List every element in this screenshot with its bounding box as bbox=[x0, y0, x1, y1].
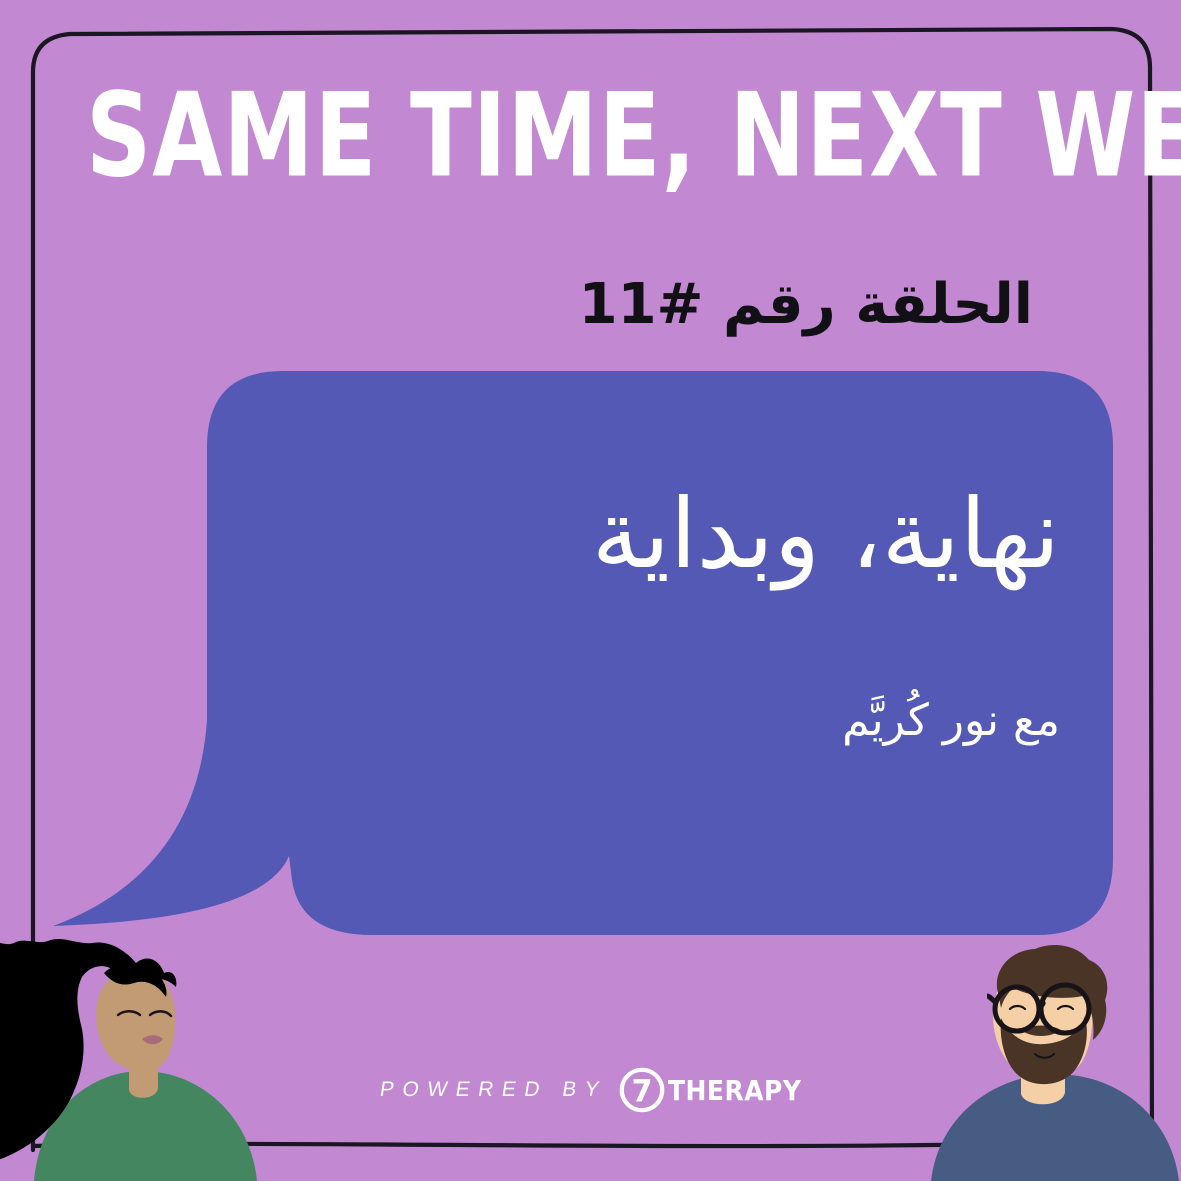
episode-title: نهاية، وبداية bbox=[170, 470, 1060, 598]
woman-avatar bbox=[0, 931, 312, 1181]
podcast-episode-cover: SAME TIME, NEXT WEEK الحلقة رقم #11 نهاي… bbox=[0, 0, 1181, 1181]
bubble-text-container: نهاية، وبداية مع نور كُريَّم bbox=[170, 470, 1060, 752]
powered-by-label: POWERED BY bbox=[378, 1078, 609, 1102]
seven-circle-logo-icon: 7 bbox=[619, 1067, 665, 1113]
svg-text:7: 7 bbox=[631, 1075, 652, 1110]
brand-name-label: THERAPY bbox=[668, 1074, 802, 1106]
episode-host-label: مع نور كُريَّم bbox=[170, 690, 1060, 752]
man-avatar bbox=[913, 936, 1181, 1181]
